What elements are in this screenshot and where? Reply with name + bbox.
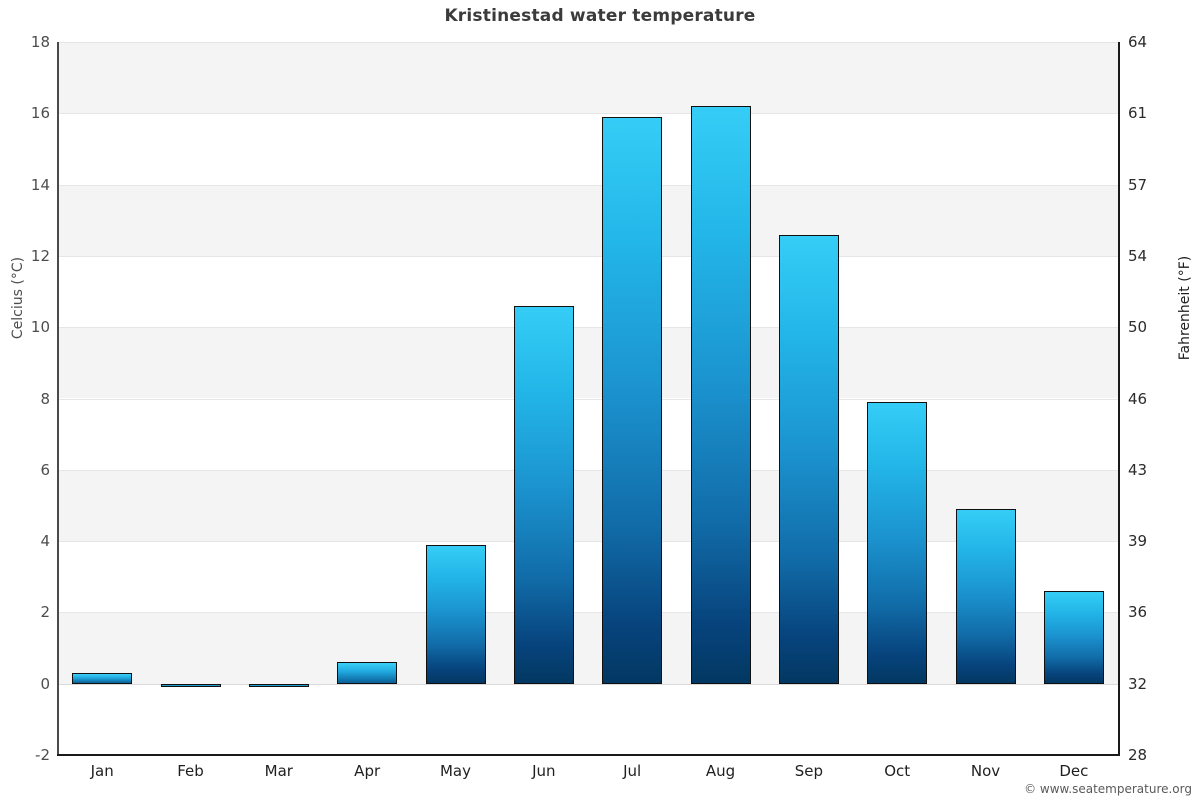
bar-apr [337, 662, 397, 683]
bar-nov [956, 509, 1016, 684]
bar-feb [161, 684, 221, 688]
grid-band [58, 185, 1118, 256]
x-tick-label-apr: Apr [354, 762, 380, 780]
x-tick-label-nov: Nov [971, 762, 1000, 780]
x-tick-label-jul: Jul [623, 762, 641, 780]
x-tick-label-mar: Mar [265, 762, 293, 780]
y-tick-label-celsius: 16 [6, 104, 50, 122]
y-tick-label-fahrenheit: 61 [1128, 104, 1172, 122]
y-tick-label-fahrenheit: 39 [1128, 532, 1172, 550]
gridline [58, 113, 1118, 114]
y-tick-label-celsius: 2 [6, 603, 50, 621]
gridline [58, 256, 1118, 257]
x-tick-label-jun: Jun [532, 762, 555, 780]
y-tick-label-fahrenheit: 32 [1128, 675, 1172, 693]
x-tick-label-may: May [440, 762, 471, 780]
gridline [58, 470, 1118, 471]
bar-jan [72, 673, 132, 684]
chart-title: Kristinestad water temperature [0, 6, 1200, 26]
y-tick-label-fahrenheit: 64 [1128, 33, 1172, 51]
y-tick-label-celsius: 6 [6, 461, 50, 479]
bar-aug [691, 106, 751, 684]
bar-jul [602, 117, 662, 684]
gridline [58, 185, 1118, 186]
y-axis-right-title: Fahrenheit (°F) [1177, 208, 1193, 408]
x-tick-label-dec: Dec [1059, 762, 1088, 780]
y-tick-label-celsius: -2 [6, 746, 50, 764]
x-axis-spine [57, 754, 1120, 756]
y-axis-left-title: Celcius (°C) [10, 198, 26, 398]
bar-dec [1044, 591, 1104, 684]
gridline [58, 42, 1118, 43]
y-tick-label-fahrenheit: 57 [1128, 176, 1172, 194]
y-tick-label-fahrenheit: 54 [1128, 247, 1172, 265]
y-tick-label-fahrenheit: 28 [1128, 746, 1172, 764]
grid-band [58, 327, 1118, 398]
x-tick-label-sep: Sep [795, 762, 823, 780]
water-temperature-chart: Kristinestad water temperature -20246810… [0, 0, 1200, 800]
gridline [58, 399, 1118, 400]
x-tick-label-jan: Jan [91, 762, 114, 780]
gridline [58, 327, 1118, 328]
y-tick-label-celsius: 4 [6, 532, 50, 550]
y-tick-label-fahrenheit: 50 [1128, 318, 1172, 336]
grid-band [58, 42, 1118, 113]
bar-jun [514, 306, 574, 684]
y-tick-label-fahrenheit: 36 [1128, 603, 1172, 621]
x-tick-label-feb: Feb [177, 762, 204, 780]
y-tick-label-fahrenheit: 46 [1128, 390, 1172, 408]
y-tick-label-fahrenheit: 43 [1128, 461, 1172, 479]
bar-oct [867, 402, 927, 684]
y-tick-label-celsius: 18 [6, 33, 50, 51]
y-axis-left-spine [57, 42, 59, 756]
copyright-credit: © www.seatemperature.org [1024, 782, 1192, 796]
x-tick-label-aug: Aug [706, 762, 735, 780]
bar-mar [249, 684, 309, 688]
x-tick-label-oct: Oct [884, 762, 910, 780]
plot-area [58, 42, 1118, 755]
y-tick-label-celsius: 14 [6, 176, 50, 194]
bar-may [426, 545, 486, 684]
y-axis-right-spine [1118, 42, 1120, 756]
y-tick-label-celsius: 0 [6, 675, 50, 693]
bar-sep [779, 235, 839, 684]
